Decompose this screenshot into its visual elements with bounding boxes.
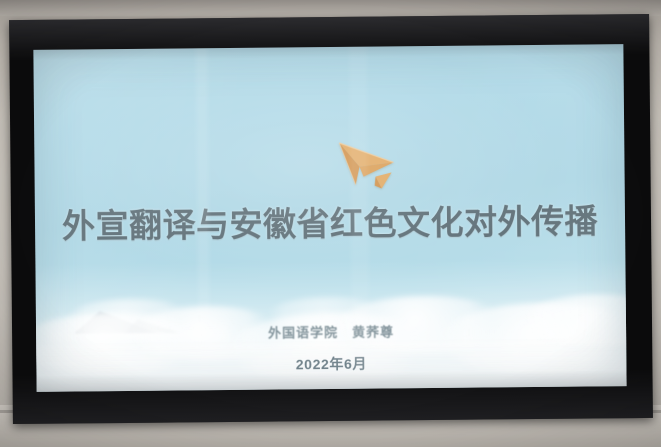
slide-title: 外宣翻译与安徽省红色文化对外传播 (35, 194, 625, 248)
photograph-of-projection-screen: 外宣翻译与安徽省红色文化对外传播 外国语学院 黄荞尊 2022年6月 (0, 0, 661, 447)
paper-plane-icon (329, 132, 402, 195)
presentation-slide: 外宣翻译与安徽省红色文化对外传播 外国语学院 黄荞尊 2022年6月 (33, 44, 626, 392)
projection-screen-frame: 外宣翻译与安徽省红色文化对外传播 外国语学院 黄荞尊 2022年6月 (9, 14, 653, 424)
ceiling-shadow (0, 0, 661, 16)
